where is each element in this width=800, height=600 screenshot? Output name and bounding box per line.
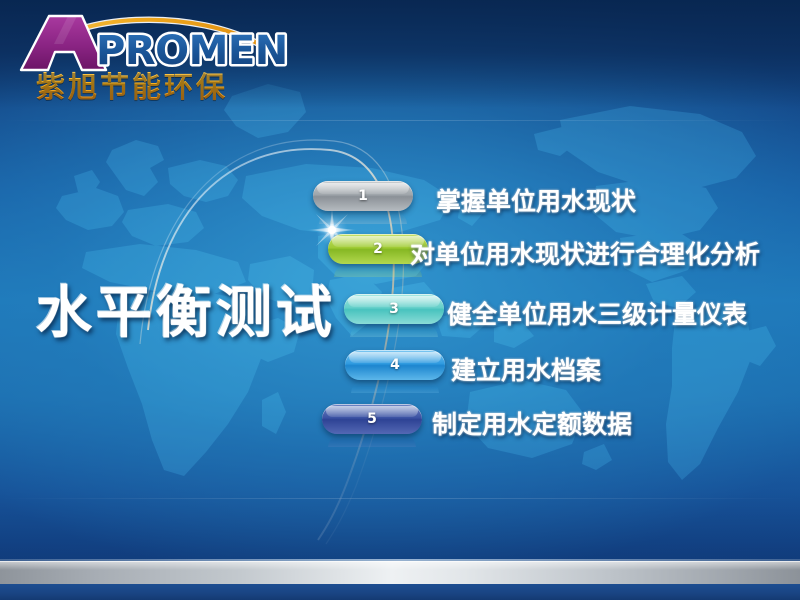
step-pill-reflection <box>350 325 438 337</box>
step-pill-reflection <box>334 265 422 277</box>
slide-canvas: PROMEN PROMEN 紫旭节能环保 紫旭节能环保 水平衡测试 <box>0 0 800 600</box>
list-item[interactable]: 1掌握单位用水现状 <box>0 181 800 215</box>
footer-bar <box>0 548 800 600</box>
list-item-label: 对单位用水现状进行合理化分析 <box>410 235 760 271</box>
list-item-label: 健全单位用水三级计量仪表 <box>447 295 747 331</box>
step-pill-reflection <box>328 435 416 447</box>
footer-blue-strip <box>0 584 800 600</box>
step-pill-3[interactable]: 3 <box>344 294 444 324</box>
step-number: 3 <box>389 301 399 317</box>
list-item-label: 建立用水档案 <box>451 351 601 387</box>
list-item[interactable]: 4建立用水档案 <box>0 350 800 384</box>
step-pill-reflection <box>351 381 439 393</box>
step-number: 4 <box>390 357 400 373</box>
step-pill-1[interactable]: 1 <box>313 181 413 211</box>
step-number: 2 <box>373 241 383 257</box>
list-item[interactable]: 2对单位用水现状进行合理化分析 <box>0 234 800 268</box>
step-pill-5[interactable]: 5 <box>322 404 422 434</box>
background-sheen-line <box>0 120 800 121</box>
step-number: 1 <box>358 188 368 204</box>
list-item-label: 制定用水定额数据 <box>432 405 632 441</box>
list-item[interactable]: 5制定用水定额数据 <box>0 404 800 438</box>
background-sheen-line <box>0 498 800 499</box>
step-pill-reflection <box>319 212 407 224</box>
step-pill-4[interactable]: 4 <box>345 350 445 380</box>
list-item-label: 掌握单位用水现状 <box>436 182 636 218</box>
list-item[interactable]: 3健全单位用水三级计量仪表 <box>0 294 800 328</box>
step-number: 5 <box>367 411 377 427</box>
silver-divider-bar <box>0 561 800 584</box>
brand-subtitle: 紫旭节能环保 <box>36 64 228 106</box>
